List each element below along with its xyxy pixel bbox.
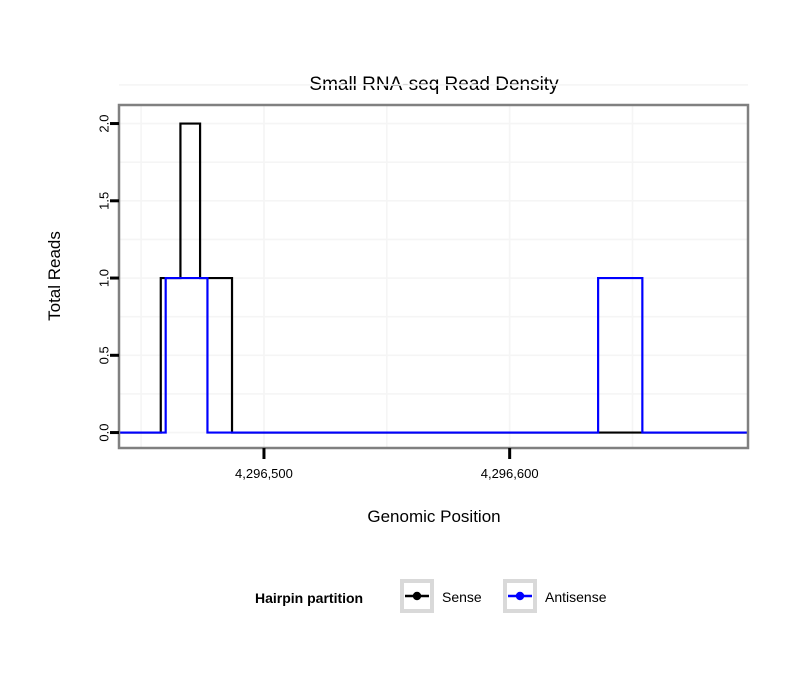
legend-entry-label: Antisense bbox=[545, 589, 607, 605]
legend-entries: SenseAntisense bbox=[402, 581, 607, 611]
chart-legend: Hairpin partition SenseAntisense bbox=[255, 581, 607, 611]
y-tick-label: 2.0 bbox=[97, 115, 112, 133]
y-tick-label: 1.5 bbox=[97, 192, 112, 210]
legend-title: Hairpin partition bbox=[255, 590, 363, 606]
y-axis-ticks: 0.00.51.01.52.0 bbox=[97, 115, 120, 442]
legend-key-sense[interactable]: Sense bbox=[402, 581, 482, 611]
x-tick-label: 4,296,500 bbox=[235, 466, 293, 481]
y-axis-title: Total Reads bbox=[45, 231, 64, 321]
y-tick-label: 0.0 bbox=[97, 424, 112, 442]
plot-panel-background bbox=[119, 105, 748, 448]
x-axis-title: Genomic Position bbox=[367, 507, 500, 526]
legend-key-point bbox=[413, 592, 421, 600]
y-tick-label: 1.0 bbox=[97, 269, 112, 287]
x-tick-label: 4,296,600 bbox=[481, 466, 539, 481]
legend-key-antisense[interactable]: Antisense bbox=[505, 581, 607, 611]
legend-entry-label: Sense bbox=[442, 589, 482, 605]
legend-key-point bbox=[516, 592, 524, 600]
chart-canvas: Small RNA-seq Read Density Total Reads G… bbox=[0, 0, 810, 690]
y-tick-label: 0.5 bbox=[97, 346, 112, 364]
chart-figure: Small RNA-seq Read Density Total Reads G… bbox=[0, 0, 810, 690]
x-axis-ticks: 4,296,5004,296,600 bbox=[235, 448, 539, 481]
